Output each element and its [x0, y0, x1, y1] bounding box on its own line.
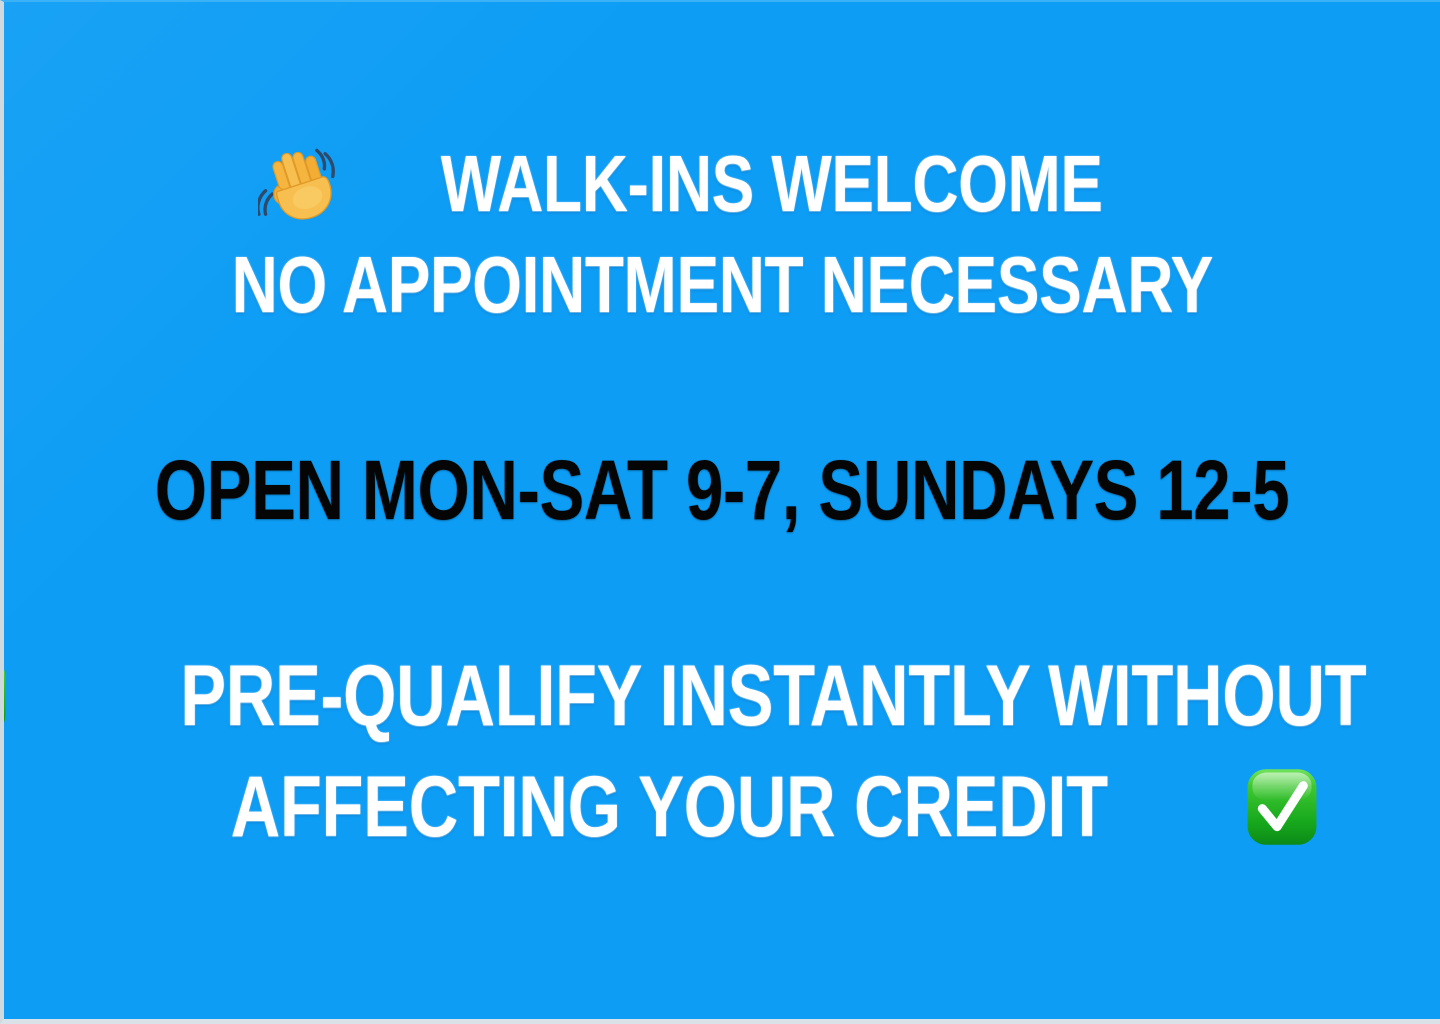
- pre-qualify-line: PRE-QUALIFY INSTANTLY WITHOUT: [4, 651, 1440, 742]
- walk-ins-welcome-line: WALK-INS WELCOME: [4, 142, 1440, 227]
- store-hours-text: OPEN MON-SAT 9-7, SUNDAYS 12-5: [155, 446, 1289, 535]
- no-appointment-line: NO APPOINTMENT NECESSARY: [4, 243, 1440, 328]
- store-hours-line: OPEN MON-SAT 9-7, SUNDAYS 12-5: [4, 446, 1440, 535]
- pre-qualify-text: PRE-QUALIFY INSTANTLY WITHOUT: [180, 651, 1366, 742]
- white-check-mark-icon: [0, 655, 12, 737]
- affecting-credit-line: AFFECTING YOUR CREDIT: [4, 762, 1440, 853]
- white-check-mark-icon: [1241, 766, 1323, 848]
- walk-ins-welcome-block: WALK-INS WELCOME NO APPOINTMENT NECESSAR…: [4, 142, 1440, 328]
- affecting-credit-text: AFFECTING YOUR CREDIT: [230, 762, 1107, 853]
- walk-ins-welcome-text: WALK-INS WELCOME: [441, 142, 1103, 227]
- waving-hand-icon: [258, 142, 342, 226]
- no-appointment-text: NO APPOINTMENT NECESSARY: [231, 243, 1212, 328]
- pre-qualify-block: PRE-QUALIFY INSTANTLY WITHOUT AFFECTING …: [4, 651, 1440, 853]
- store-hours-block: OPEN MON-SAT 9-7, SUNDAYS 12-5: [4, 446, 1440, 535]
- promo-banner: WALK-INS WELCOME NO APPOINTMENT NECESSAR…: [0, 0, 1440, 1024]
